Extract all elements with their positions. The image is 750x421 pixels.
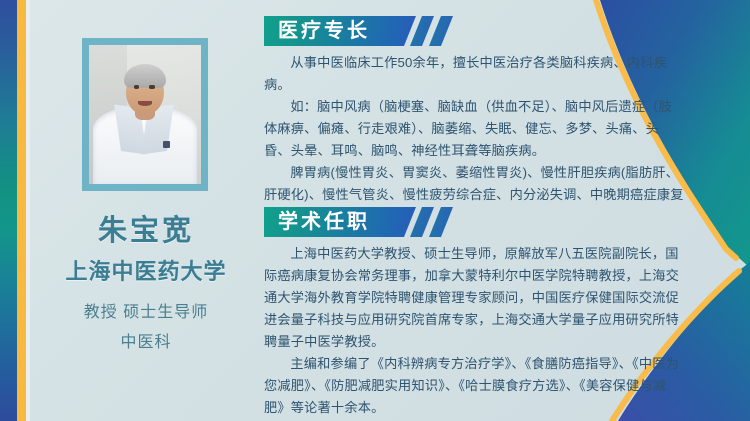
eye-left <box>134 85 140 89</box>
content-column: 医疗专长 从事中医临床工作50余年，擅长中医治疗各类脑科疾病、内科疾病。 如：脑… <box>264 0 684 421</box>
paragraph: 上海中医药大学教授、硕士生导师，原解放军八五医院副院长，国际癌病康复协会常务理事… <box>264 243 684 353</box>
yellow-stripe <box>17 0 26 421</box>
section-academic-appointments: 学术任职 上海中医药大学教授、硕士生导师，原解放军八五医院副院长，国际癌病康复协… <box>264 207 684 419</box>
section-banner-academic-appointments: 学术任职 <box>264 207 469 237</box>
paragraph: 如：脑中风病（脑梗塞、脑缺血（供血不足）、脑中风后遗症（肢体麻痹、偏瘫、行走艰难… <box>264 96 684 162</box>
doctor-portrait <box>89 45 201 184</box>
banner-slash-second <box>429 207 453 237</box>
coat-badge <box>163 141 170 148</box>
paragraph: 从事中医临床工作50余年，擅长中医治疗各类脑科疾病、内科疾病。 <box>264 52 684 96</box>
profile-column: 朱宝宽 上海中医药大学 教授 硕士生导师 中医科 <box>30 0 262 421</box>
banner-slash-second <box>429 16 453 46</box>
doctor-organization: 上海中医药大学 <box>30 254 262 286</box>
doctor-title: 教授 硕士生导师 <box>30 298 262 322</box>
banner-label: 学术任职 <box>278 207 370 237</box>
banner-label: 医疗专长 <box>278 16 370 46</box>
hair <box>124 64 167 88</box>
portrait-frame <box>82 38 208 191</box>
eye-right <box>149 85 155 89</box>
section-medical-specialty: 医疗专长 从事中医临床工作50余年，擅长中医治疗各类脑科疾病、内科疾病。 如：脑… <box>264 16 684 228</box>
section-banner-medical-specialty: 医疗专长 <box>264 16 469 46</box>
doctor-profile-poster: 朱宝宽 上海中医药大学 教授 硕士生导师 中医科 医疗专长 从事中医临床工作50… <box>0 0 750 421</box>
gradient-stripe <box>0 0 17 421</box>
doctor-name: 朱宝宽 <box>30 207 262 249</box>
doctor-department: 中医科 <box>30 328 262 352</box>
paragraph: 主编和参编了《内科辨病专方治疗学》、《食膳防癌指导》、《中医为您减肥》、《防肥减… <box>264 353 684 419</box>
